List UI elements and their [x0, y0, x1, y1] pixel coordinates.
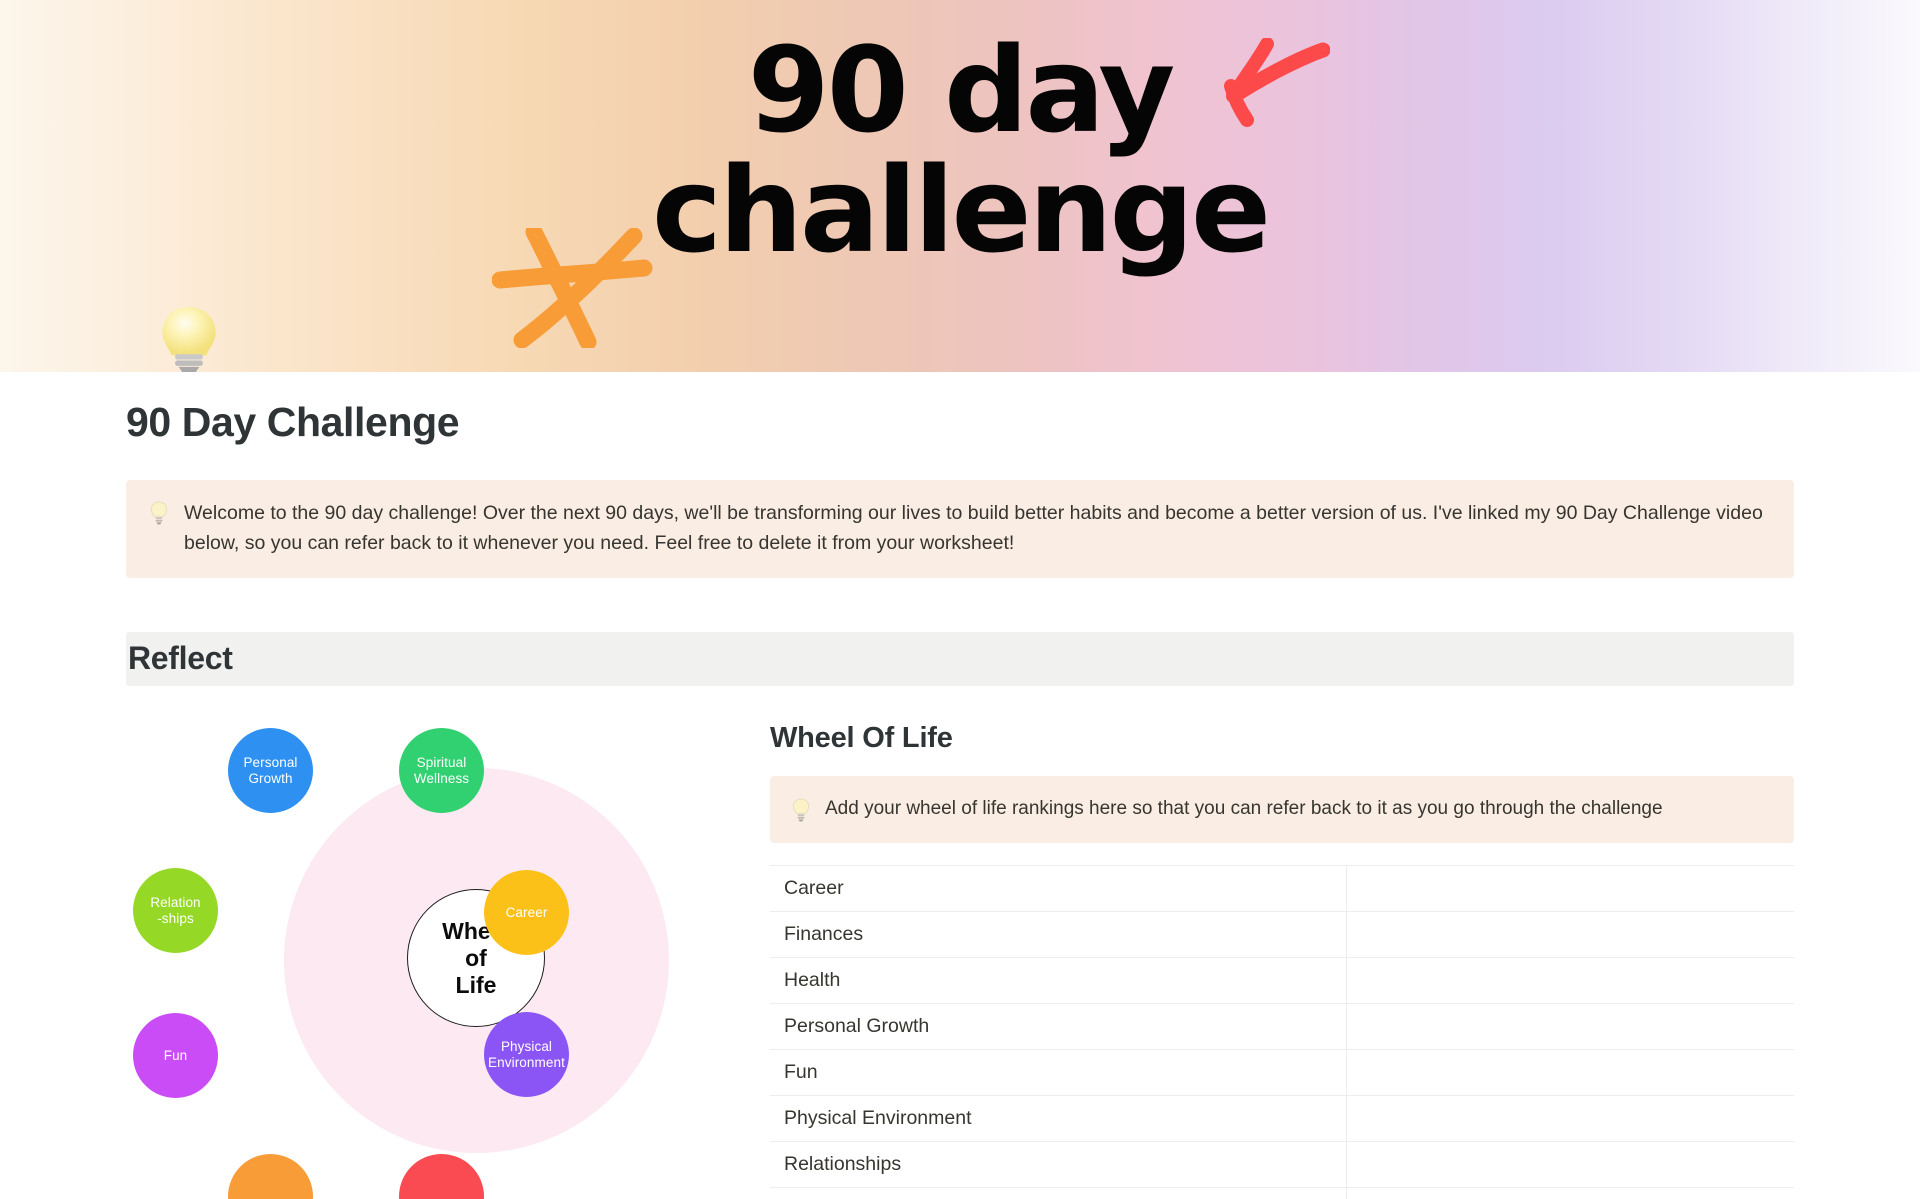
- wheel-node: Physical Environment: [484, 1012, 569, 1097]
- wheel-of-life-diagram: Wheel of Life Personal GrowthSpiritual W…: [124, 716, 724, 1199]
- table-cell-value[interactable]: [1346, 958, 1794, 1004]
- table-cell-label[interactable]: Spiritual Wellness: [770, 1188, 1346, 1199]
- table-cell-label[interactable]: Career: [770, 866, 1346, 912]
- light-bulb-emoji-icon: [152, 301, 226, 372]
- table-cell-value[interactable]: [1346, 1050, 1794, 1096]
- section-heading-label: Reflect: [128, 640, 1794, 677]
- table-row: Career: [770, 866, 1794, 912]
- wheel-node: [228, 1154, 313, 1199]
- wheel-of-life-panel: Wheel Of Life Add your wheel of life ran…: [756, 716, 1794, 1199]
- table-cell-label[interactable]: Health: [770, 958, 1346, 1004]
- wheel-panel-title: Wheel Of Life: [770, 716, 1794, 755]
- table-row: Fun: [770, 1050, 1794, 1096]
- wheel-panel-callout: Add your wheel of life rankings here so …: [770, 776, 1794, 843]
- table-row: Spiritual Wellness: [770, 1188, 1794, 1199]
- table-cell-value[interactable]: [1346, 866, 1794, 912]
- table-cell-label[interactable]: Fun: [770, 1050, 1346, 1096]
- table-cell-value[interactable]: [1346, 1004, 1794, 1050]
- table-cell-label[interactable]: Relationships: [770, 1142, 1346, 1188]
- wheel-node: Fun: [133, 1013, 218, 1098]
- wheel-node: Career: [484, 870, 569, 955]
- table-cell-label[interactable]: Finances: [770, 912, 1346, 958]
- table-row: Finances: [770, 912, 1794, 958]
- table-cell-label[interactable]: Personal Growth: [770, 1004, 1346, 1050]
- page-content: 90 Day Challenge Welcome to the 90 day c…: [0, 372, 1920, 1199]
- wheel-diagram-column: Wheel of Life Personal GrowthSpiritual W…: [126, 716, 756, 1199]
- table-cell-label[interactable]: Physical Environment: [770, 1096, 1346, 1142]
- wheel-node: Spiritual Wellness: [399, 728, 484, 813]
- wheel-node: Personal Growth: [228, 728, 313, 813]
- intro-callout: Welcome to the 90 day challenge! Over th…: [126, 480, 1794, 578]
- page-cover-banner: 90 day challenge: [0, 0, 1920, 372]
- intro-callout-text: Welcome to the 90 day challenge! Over th…: [184, 499, 1772, 558]
- section-heading-reflect: Reflect: [126, 632, 1794, 686]
- table-row: Relationships: [770, 1142, 1794, 1188]
- cover-title: 90 day challenge: [0, 30, 1920, 271]
- wheel-rankings-table: CareerFinancesHealthPersonal GrowthFunPh…: [770, 865, 1794, 1199]
- table-cell-value[interactable]: [1346, 1142, 1794, 1188]
- table-row: Physical Environment: [770, 1096, 1794, 1142]
- wheel-node: [399, 1154, 484, 1199]
- table-row: Health: [770, 958, 1794, 1004]
- light-bulb-icon: [790, 797, 812, 823]
- table-row: Personal Growth: [770, 1004, 1794, 1050]
- table-cell-value[interactable]: [1346, 912, 1794, 958]
- table-cell-value[interactable]: [1346, 1096, 1794, 1142]
- table-cell-value[interactable]: [1346, 1188, 1794, 1199]
- light-bulb-icon: [148, 500, 170, 526]
- page-title: 90 Day Challenge: [126, 372, 1794, 446]
- wheel-panel-callout-text: Add your wheel of life rankings here so …: [825, 795, 1663, 824]
- wheel-node: Relation -ships: [133, 868, 218, 953]
- reflect-columns: Wheel of Life Personal GrowthSpiritual W…: [126, 716, 1794, 1199]
